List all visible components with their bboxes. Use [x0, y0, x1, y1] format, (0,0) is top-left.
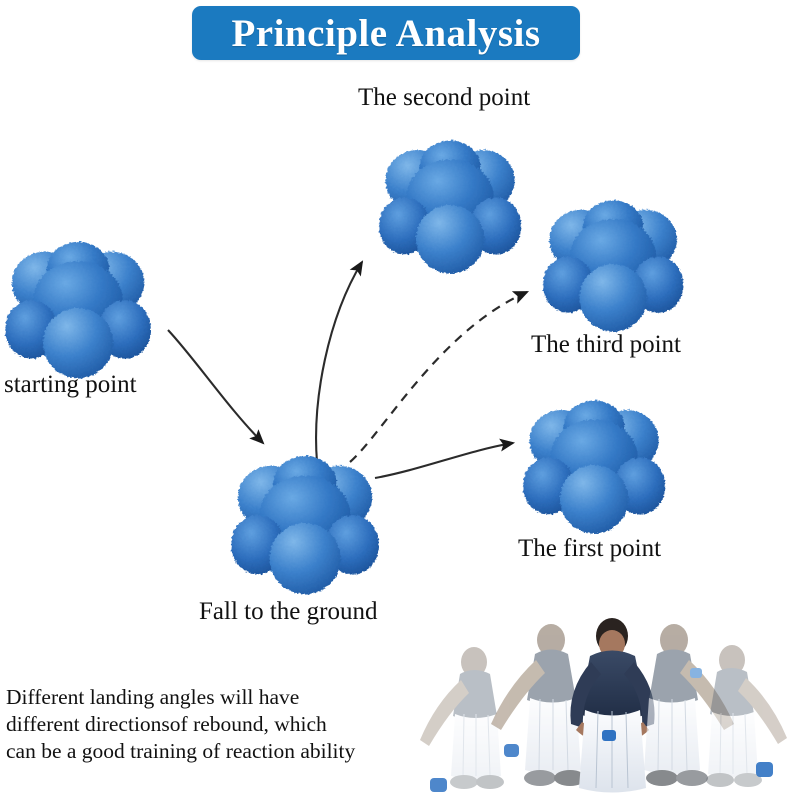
- label-first-point: The first point: [518, 535, 661, 563]
- first-point-ball: [520, 392, 672, 540]
- label-second-point: The second point: [358, 84, 530, 112]
- figure-main: [570, 618, 654, 793]
- arrow-landing-to-first: [375, 443, 513, 478]
- explanatory-caption: Different landing angles will have diffe…: [6, 684, 426, 765]
- title-banner: Principle Analysis: [192, 6, 580, 60]
- caption-line-2: different directionsof rebound, which: [6, 711, 426, 738]
- starting-point-ball: [2, 236, 158, 382]
- caption-line-1: Different landing angles will have: [6, 684, 426, 711]
- arrow-start-to-landing: [168, 330, 263, 443]
- caption-line-3: can be a good training of reaction abili…: [6, 738, 426, 765]
- ball-marker-mid: [504, 744, 519, 757]
- label-fall-to-the-ground: Fall to the ground: [199, 598, 377, 626]
- arrow-landing-to-second: [316, 262, 362, 462]
- principle-analysis-infographic: Principle Analysis: [0, 0, 800, 800]
- figure-ghost-5: [706, 645, 787, 787]
- label-third-point: The third point: [531, 331, 681, 359]
- landing-ball: [228, 448, 386, 600]
- page-title: Principle Analysis: [231, 14, 540, 53]
- ball-marker-right: [756, 762, 773, 777]
- second-point-ball: [376, 132, 528, 280]
- ball-marker-left: [430, 778, 447, 792]
- athlete-reaction-sequence-photo: [412, 602, 800, 800]
- label-starting-point: starting point: [4, 371, 137, 399]
- third-point-ball: [540, 192, 690, 338]
- arrow-landing-to-third: [350, 292, 527, 462]
- figure-ghost-1: [420, 647, 504, 789]
